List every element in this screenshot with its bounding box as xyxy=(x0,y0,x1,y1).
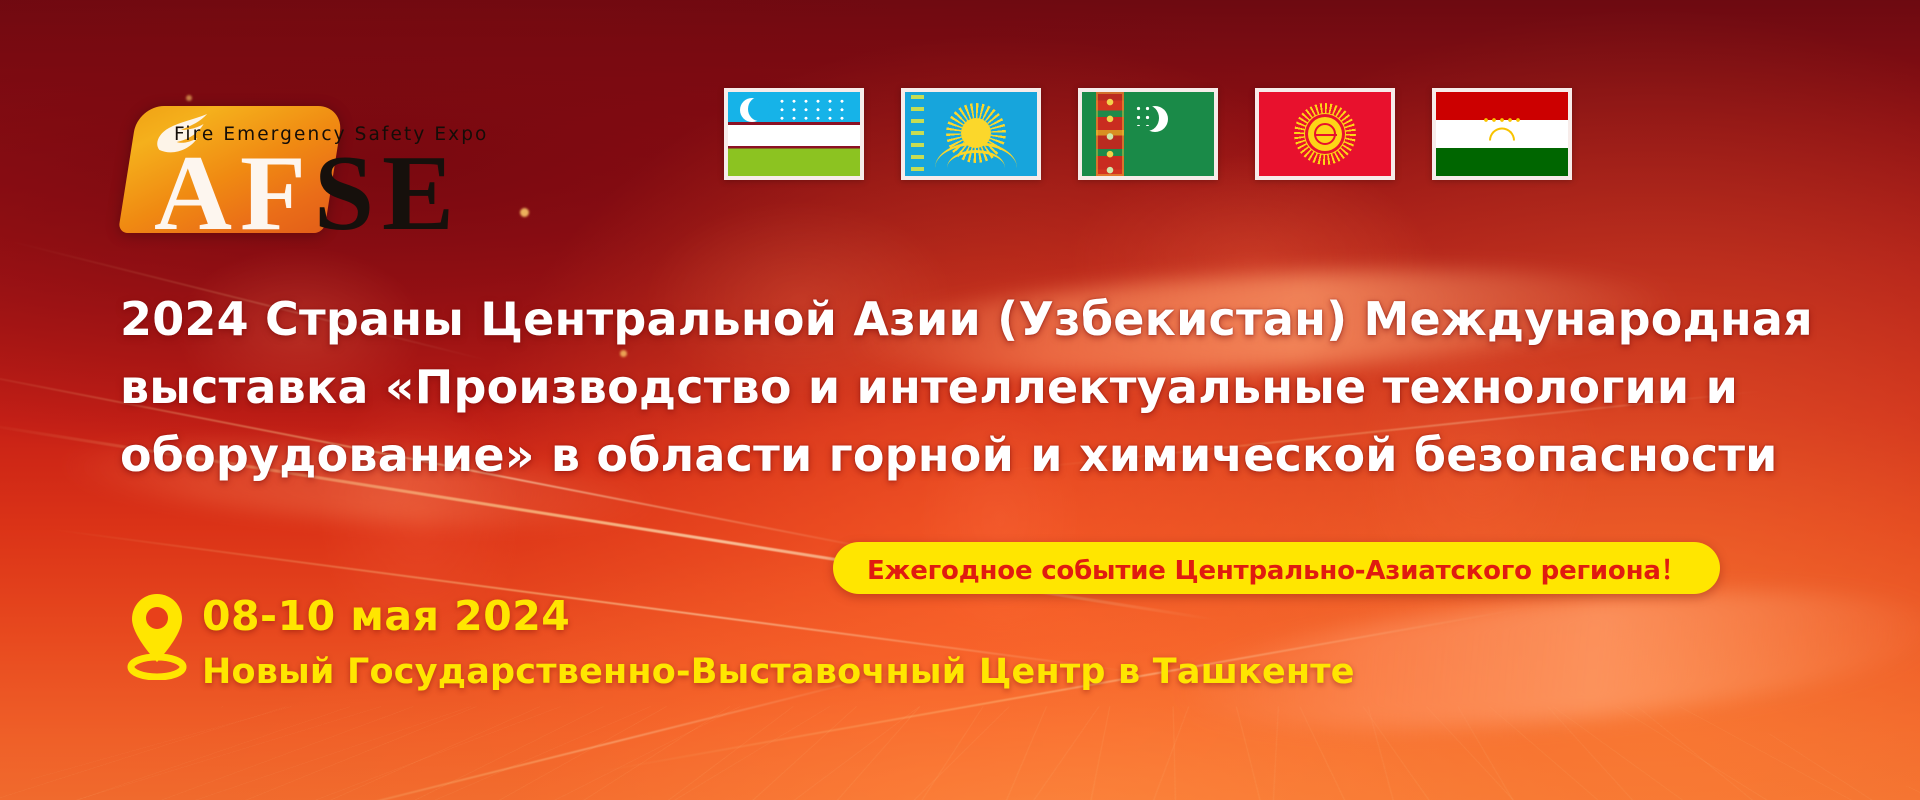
flag-kyrgyzstan xyxy=(1255,88,1395,180)
crescent-moon-icon xyxy=(740,98,764,122)
flag-uzbekistan xyxy=(724,88,864,180)
stars-group xyxy=(1482,115,1522,125)
event-details: 08-10 мая 2024 Новый Государственно-Выст… xyxy=(126,588,1355,692)
flag-tajikistan xyxy=(1432,88,1572,180)
logo-acronym: AFSE xyxy=(154,140,462,248)
stars-group xyxy=(776,97,850,125)
event-banner: Fire Emergency Safety Expo AFSE xyxy=(0,0,1920,800)
headline-line-3: оборудование» в области горной и химичес… xyxy=(120,421,1860,489)
event-details-text: 08-10 мая 2024 Новый Государственно-Выст… xyxy=(202,588,1355,692)
country-flags xyxy=(724,88,1572,180)
afse-logo[interactable]: Fire Emergency Safety Expo AFSE xyxy=(128,88,458,233)
spark-particle xyxy=(520,208,529,217)
tunduk-icon xyxy=(1314,123,1336,145)
logo-acronym-light: AF xyxy=(154,134,314,253)
annual-event-badge: Ежегодное событие Центрально-Азиатского … xyxy=(833,542,1720,594)
carpet-stripe xyxy=(1096,92,1124,176)
headline-line-2: выставка «Производство и интеллектуальны… xyxy=(120,353,1860,421)
perspective-grid-background xyxy=(0,707,1920,800)
flag-kazakhstan xyxy=(901,88,1041,180)
ornament-strip xyxy=(911,92,924,176)
crown-icon xyxy=(1489,128,1515,141)
logo-acronym-dark: SE xyxy=(314,134,462,253)
event-venue: Новый Государственно-Выставочный Центр в… xyxy=(202,652,1355,692)
location-pin-icon xyxy=(126,588,188,680)
annual-event-badge-label: Ежегодное событие Центрально-Азиатского … xyxy=(867,550,1686,587)
flag-turkmenistan xyxy=(1078,88,1218,180)
event-date: 08-10 мая 2024 xyxy=(202,592,1355,640)
headline-line-1: 2024 Страны Центральной Азии (Узбекистан… xyxy=(120,285,1860,353)
stars-group xyxy=(1134,104,1154,126)
banner-headline: 2024 Страны Центральной Азии (Узбекистан… xyxy=(120,285,1860,489)
